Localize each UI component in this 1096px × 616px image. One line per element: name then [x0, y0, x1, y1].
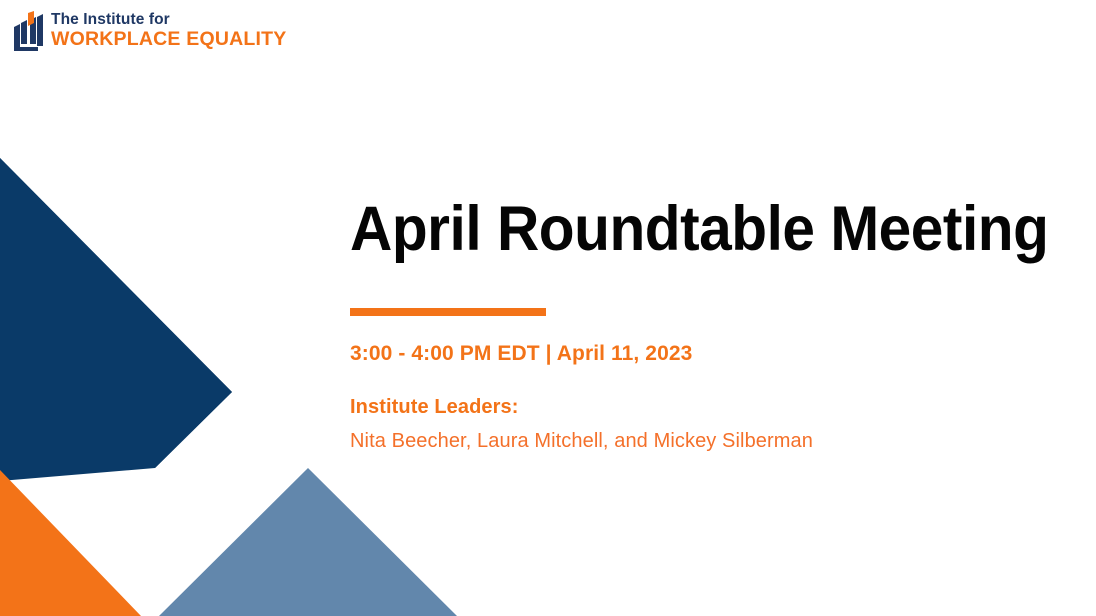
orange-accent-bar: [350, 308, 546, 316]
institute-leaders-label: Institute Leaders:: [350, 396, 1080, 419]
slide-content: April Roundtable Meeting 3:00 - 4:00 PM …: [350, 196, 1080, 453]
meeting-time: 3:00 - 4:00 PM EDT | April 11, 2023: [350, 342, 1080, 366]
open-book-logo-icon: [14, 11, 44, 53]
institute-leaders-names: Nita Beecher, Laura Mitchell, and Mickey…: [350, 430, 1080, 453]
navy-diagonal-band: [0, 158, 232, 481]
orange-corner-triangle: [0, 470, 141, 616]
logo-line-institute: The Institute for: [51, 12, 286, 28]
steel-blue-triangle: [159, 468, 457, 616]
navy-diagonal-band-lower: [0, 158, 232, 468]
logo-line-workplace-equality: WORKPLACE EQUALITY: [51, 30, 286, 50]
institute-logo: The Institute for WORKPLACE EQUALITY: [14, 11, 286, 53]
slide-title: April Roundtable Meeting: [350, 196, 1029, 262]
presentation-slide: The Institute for WORKPLACE EQUALITY Apr…: [0, 0, 1096, 616]
